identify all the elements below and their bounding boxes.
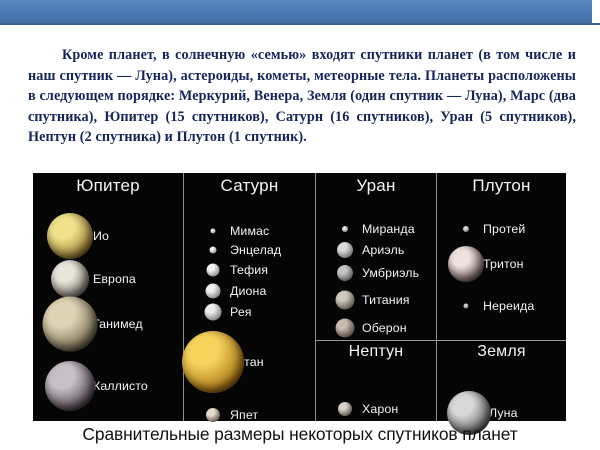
moon-sphere-icon <box>335 291 354 310</box>
moon-sphere-icon <box>209 247 216 254</box>
moon-label: Мимас <box>230 224 269 238</box>
moon-label: Умбриэль <box>362 266 419 280</box>
moon-image <box>437 402 489 424</box>
moon-image <box>184 404 230 426</box>
moon-sphere-icon <box>337 265 353 281</box>
column-title-jupiter: Юпитер <box>33 173 183 196</box>
moon-sphere-icon <box>47 213 93 259</box>
moon-image <box>437 218 483 240</box>
moon-label: Протей <box>483 222 525 236</box>
column-pluto-earth: Плутон ПротейТритонНереида Земля Луна <box>436 173 566 421</box>
moon-sphere-icon <box>182 331 244 393</box>
moon-row: Оберон <box>316 317 436 339</box>
moon-sphere-icon <box>463 304 468 309</box>
moon-image <box>33 313 93 335</box>
slide-top-accent-bar <box>0 0 600 25</box>
subcolumn-neptune: Нептун Харон <box>316 340 436 422</box>
moon-sphere-icon <box>338 402 352 416</box>
moon-label: Титания <box>362 293 410 307</box>
moon-label: Япет <box>230 408 258 422</box>
column-jupiter: Юпитер ИоЕвропаГанимедКаллисто <box>33 173 183 421</box>
moon-row: Каллисто <box>33 375 183 397</box>
moon-row: Европа <box>33 268 183 290</box>
moon-sphere-icon <box>210 229 215 234</box>
moon-label: Ариэль <box>362 243 404 257</box>
moon-list-jupiter: ИоЕвропаГанимедКаллисто <box>33 196 183 198</box>
moon-label: Тритон <box>483 257 524 271</box>
moon-sphere-icon <box>204 304 221 321</box>
subcolumn-uranus: Уран МирандаАриэльУмбриэльТитанияОберон <box>316 173 436 340</box>
moon-image <box>184 351 230 373</box>
moon-sphere-icon <box>342 226 348 232</box>
satellites-grid: Юпитер ИоЕвропаГанимедКаллисто Сатурн Ми… <box>33 173 566 421</box>
moon-image <box>184 280 230 302</box>
moon-image <box>33 268 93 290</box>
figure-caption: Сравнительные размеры некоторых спутнико… <box>30 424 570 445</box>
moon-sphere-icon <box>448 246 484 282</box>
column-saturn: Сатурн МимасЭнцеладТефияДионаРеяТитанЯпе… <box>183 173 315 421</box>
moon-row: Диона <box>184 280 315 302</box>
moon-label: Европа <box>93 272 136 286</box>
moon-row: Тефия <box>184 259 315 281</box>
moon-image <box>316 239 362 261</box>
moon-row: Титания <box>316 289 436 311</box>
moon-label: Оберон <box>362 321 407 335</box>
moon-image <box>437 295 483 317</box>
subcolumn-pluto: Плутон ПротейТритонНереида <box>437 173 566 340</box>
moon-row: Нереида <box>437 295 566 317</box>
moon-row: Рея <box>184 301 315 323</box>
moon-row: Ариэль <box>316 239 436 261</box>
moon-row: Япет <box>184 404 315 426</box>
moon-image <box>184 259 230 281</box>
moon-row: Тритон <box>437 253 566 275</box>
intro-paragraph: Кроме планет, в солнечную «семью» входят… <box>28 45 576 148</box>
moon-row: Ио <box>33 225 183 247</box>
moon-row: Ганимед <box>33 313 183 335</box>
moon-image <box>437 253 483 275</box>
column-title-earth: Земля <box>437 341 566 361</box>
moon-sphere-icon <box>335 319 354 338</box>
moon-image <box>316 317 362 339</box>
moon-image <box>316 289 362 311</box>
moon-label: Нереида <box>483 299 534 313</box>
moon-row: Протей <box>437 218 566 240</box>
moon-label: Луна <box>489 406 518 420</box>
moon-image <box>316 398 362 420</box>
moon-row: Харон <box>316 398 436 420</box>
top-bar-right-cap <box>592 0 600 23</box>
moon-label: Каллисто <box>93 379 148 393</box>
column-title-neptune: Нептун <box>316 341 436 361</box>
moon-sphere-icon <box>43 297 98 352</box>
moon-label: Диона <box>230 284 266 298</box>
moon-sphere-icon <box>51 260 89 298</box>
column-title-saturn: Сатурн <box>184 173 315 196</box>
moon-image <box>316 262 362 284</box>
moon-image <box>33 375 93 397</box>
moon-label: Ганимед <box>93 317 143 331</box>
moon-list-earth: Луна <box>437 361 566 363</box>
moon-row: Энцелад <box>184 239 315 261</box>
moon-row: Луна <box>437 402 566 424</box>
moon-sphere-icon <box>45 361 95 411</box>
moon-label: Ио <box>93 229 109 243</box>
column-title-pluto: Плутон <box>437 173 566 196</box>
moon-sphere-icon <box>337 242 353 258</box>
subcolumn-earth: Земля Луна <box>437 340 566 422</box>
moon-list-uranus: МирандаАриэльУмбриэльТитанияОберон <box>316 196 436 198</box>
column-title-uranus: Уран <box>316 173 436 196</box>
moon-label: Энцелад <box>230 243 281 257</box>
moon-sphere-icon <box>206 264 219 277</box>
moon-list-neptune: Харон <box>316 361 436 363</box>
moon-sphere-icon <box>206 408 220 422</box>
moon-image <box>316 218 362 240</box>
moon-image <box>184 239 230 261</box>
moon-list-pluto: ПротейТритонНереида <box>437 196 566 198</box>
moon-image <box>33 225 93 247</box>
moon-label: Харон <box>362 402 398 416</box>
moon-label: Рея <box>230 305 252 319</box>
moon-row: Умбриэль <box>316 262 436 284</box>
moon-label: Тефия <box>230 263 268 277</box>
moon-sphere-icon <box>205 284 220 299</box>
moon-image <box>184 301 230 323</box>
column-uranus-neptune: Уран МирандаАриэльУмбриэльТитанияОберон … <box>315 173 436 421</box>
moon-sphere-icon <box>463 226 469 232</box>
moon-label: Миранда <box>362 222 415 236</box>
satellites-figure: Юпитер ИоЕвропаГанимедКаллисто Сатурн Ми… <box>33 173 566 421</box>
moon-row: Титан <box>184 351 315 373</box>
moon-list-saturn: МимасЭнцеладТефияДионаРеяТитанЯпет <box>184 196 315 198</box>
moon-row: Миранда <box>316 218 436 240</box>
